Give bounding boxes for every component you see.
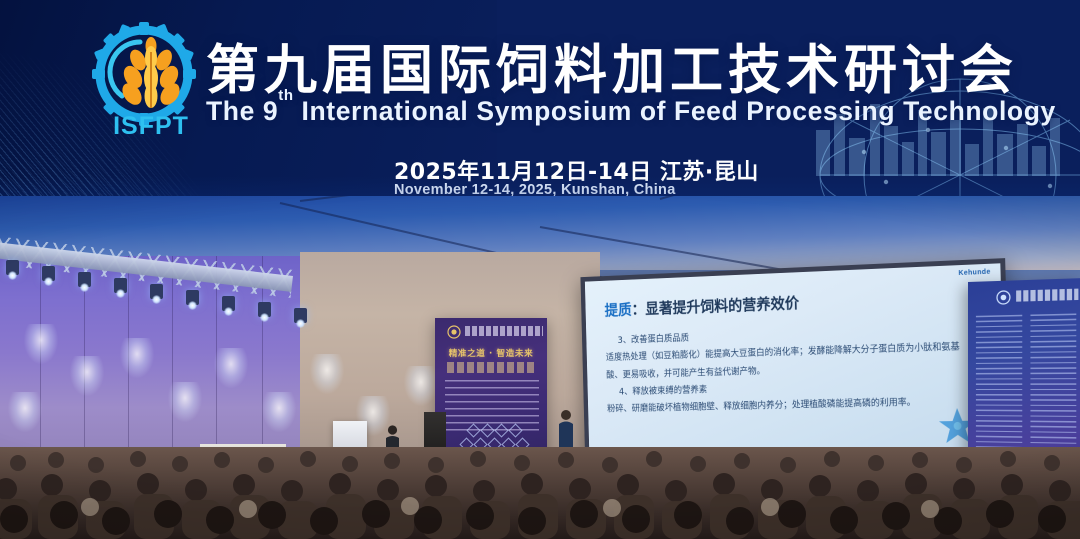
stage-light-fixture [186, 290, 199, 305]
stage-light-fixture [114, 278, 127, 293]
slide-title-rest: ：显著提升饲料的营养效价 [631, 294, 799, 318]
slide-title: 提质：显著提升饲料的营养效价 [604, 292, 799, 321]
pullup-title: 精准之道 · 智造未来 [435, 347, 547, 359]
stage-light-fixture [294, 308, 307, 323]
pullup-subtitle-text [447, 362, 537, 373]
stage-light-fixture [258, 302, 271, 317]
audience-silhouettes [0, 447, 1080, 539]
stage-light-fixture [6, 260, 19, 275]
stage-light-fixture [78, 272, 91, 287]
board-header-text [1016, 289, 1078, 302]
gobo-light [404, 366, 438, 406]
gobo-light [70, 356, 104, 396]
slide-title-highlight: 提质 [604, 301, 631, 319]
hall-photograph: 精准之道 · 智造未来 [0, 196, 1080, 539]
pullup-header-text [465, 326, 543, 336]
title-en-rest: International Symposium of Feed Processi… [294, 96, 1056, 126]
svg-text:ISFPT: ISFPT [113, 112, 189, 140]
projection-screen: Kehunde 提质：显著提升饲料的营养效价 3、改善蛋白质品质 适度热处理（如… [580, 258, 1010, 471]
stage-light-fixture [150, 284, 163, 299]
title-en-prefix: The 9 [206, 96, 278, 126]
gobo-light [8, 392, 42, 432]
gobo-light [310, 354, 344, 394]
audience-area [0, 447, 1080, 539]
slide-body: 3、改善蛋白质品质 适度热处理（如豆粕膨化）能提高大豆蛋白的消化率；发酵能降解大… [605, 320, 977, 419]
title-en-ordinal: th [278, 87, 293, 104]
isfpt-logo-icon: ISFPT [92, 22, 210, 140]
screen-corner-logo: Kehunde [958, 269, 990, 277]
board-logo-icon [996, 290, 1011, 306]
conference-banner-photo: ISFPT 第九届国际饲料加工技术研讨会 The 9th Internation… [0, 0, 1080, 539]
gobo-light [168, 382, 202, 422]
event-title-en: The 9th International Symposium of Feed … [206, 96, 1056, 127]
stage-light-fixture [222, 296, 235, 311]
event-title-cn: 第九届国际饲料加工技术研讨会 [206, 28, 1018, 104]
stage-light-fixture [42, 266, 55, 281]
gobo-light [120, 338, 154, 378]
gobo-light [262, 392, 296, 432]
pullup-logo-icon [447, 325, 461, 339]
gobo-light [214, 348, 248, 388]
gobo-light [24, 324, 58, 364]
